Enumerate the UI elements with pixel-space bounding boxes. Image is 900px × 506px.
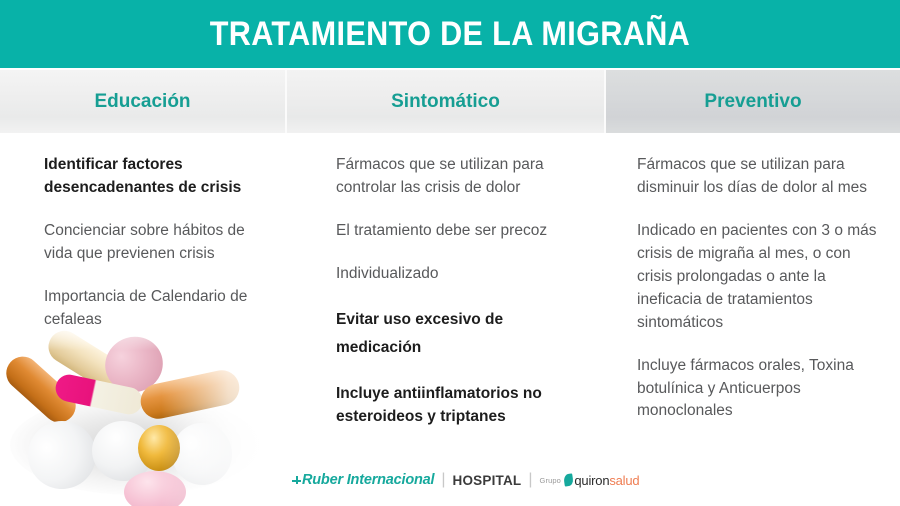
- logo-salud-text: salud: [609, 473, 639, 488]
- pill-softgel-amber: [138, 425, 180, 471]
- footer-logo: Ruber Internacional | HOSPITAL | Grupo q…: [292, 470, 639, 490]
- column-header-educacion: Educación: [0, 70, 285, 133]
- column-body-educacion: Identificar factores desencadenantes de …: [44, 133, 269, 332]
- column-header-label: Sintomático: [391, 91, 500, 113]
- column-paragraph: Indicado en pacientes con 3 o más crisis…: [637, 220, 885, 335]
- page-title: TRATAMIENTO DE LA MIGRAÑA: [210, 15, 690, 54]
- column-paragraph: Incluye antiinflamatorios no esteroideos…: [336, 383, 586, 429]
- column-header-sintomatico: Sintomático: [285, 70, 604, 133]
- column-header-label: Preventivo: [704, 91, 801, 113]
- column-header-label: Educación: [94, 91, 190, 113]
- column-body-preventivo: Fármacos que se utilizan para disminuir …: [637, 133, 885, 423]
- pills-photo: [0, 325, 278, 506]
- slide-root: TRATAMIENTO DE LA MIGRAÑA Educación Sint…: [0, 0, 900, 506]
- column-paragraph: El tratamiento debe ser precoz: [336, 220, 586, 243]
- pill-tablet-pink-bottom: [124, 471, 186, 506]
- column-paragraph: Fármacos que se utilizan para disminuir …: [637, 154, 885, 200]
- column-body-sintomatico: Fármacos que se utilizan para controlar …: [336, 133, 586, 429]
- column-paragraph: Fármacos que se utilizan para controlar …: [336, 154, 586, 200]
- logo-hospital-text: HOSPITAL: [453, 473, 522, 488]
- column-paragraph: Individualizado: [336, 263, 586, 286]
- column-paragraph: Evitar uso excesivo de medicación: [336, 306, 586, 363]
- logo-ruber-text: Ruber Internacional: [302, 472, 434, 488]
- column-paragraph: Incluye fármacos orales, Toxina botulíni…: [637, 355, 885, 424]
- column-paragraph: Identificar factores desencadenantes de …: [44, 154, 269, 200]
- ruber-mark-icon: [292, 476, 301, 485]
- column-header-preventivo: Preventivo: [604, 70, 900, 133]
- logo-grupo-text: Grupo: [540, 476, 561, 485]
- logo-quiron-text: quiron: [574, 473, 609, 488]
- logo-separator-1: |: [441, 471, 445, 489]
- quironsalud-leaf-icon: [563, 473, 574, 486]
- column-paragraph: Concienciar sobre hábitos de vida que pr…: [44, 220, 269, 266]
- title-band: TRATAMIENTO DE LA MIGRAÑA: [0, 0, 900, 68]
- logo-separator-2: |: [528, 471, 532, 489]
- column-header-band: Educación Sintomático Preventivo: [0, 70, 900, 133]
